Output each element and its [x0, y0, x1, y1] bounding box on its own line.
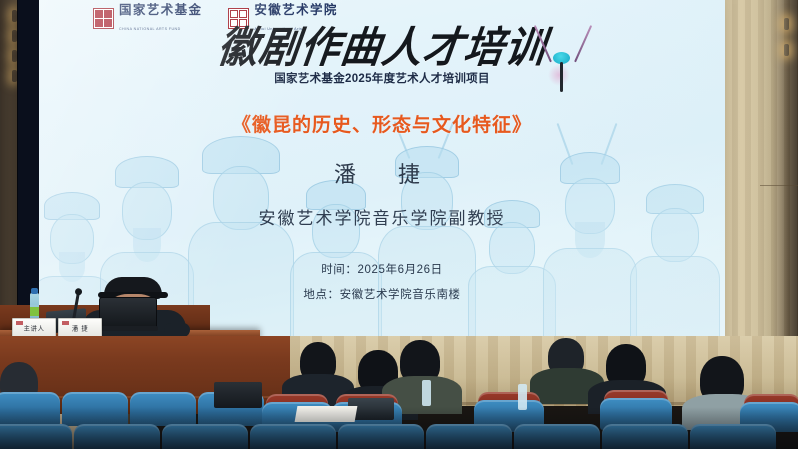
logo-cn-text: 国家艺术基金 — [119, 3, 202, 17]
lecture-title: 《徽昆的历史、形态与文化特征》 — [39, 110, 725, 137]
wall-light-icon — [12, 50, 17, 62]
program-subtitle: 国家艺术基金2025年度艺术人才培训项目 — [39, 70, 725, 86]
audience-area — [0, 336, 798, 449]
audience-water-bottle — [422, 380, 431, 406]
nameplate-role: 主讲人 — [12, 318, 56, 337]
nameplate-speaker: 潘 捷 — [58, 318, 102, 337]
arm-right — [164, 323, 190, 337]
wall-light-icon — [12, 10, 17, 22]
audience-laptop — [214, 382, 262, 408]
bottom-shadow — [0, 407, 798, 449]
seal-stamp-icon — [93, 8, 114, 29]
laptop-computer — [96, 297, 158, 331]
wall-light-icon — [784, 18, 789, 30]
opera-headdress-icon — [532, 22, 592, 94]
wall-light-icon — [12, 70, 17, 82]
wall-light-icon — [12, 30, 17, 42]
program-title-block: 徽剧作曲人才培训 国家艺术基金2025年度艺术人才培训项目 — [39, 28, 725, 86]
logo-cn-text: 安徽艺术学院 — [254, 3, 337, 17]
speaker-affiliation: 安徽艺术学院音乐学院副教授 — [39, 204, 725, 229]
program-title: 徽剧作曲人才培训 — [215, 27, 548, 69]
wall-light-icon — [784, 44, 789, 56]
wall-panel-seam — [760, 185, 798, 186]
lecture-hall-photo: 国家艺术基金 CHINA NATIONAL ARTS FUND 安徽艺术学院 A… — [0, 0, 798, 449]
speaker-name: 潘 捷 — [39, 157, 725, 189]
